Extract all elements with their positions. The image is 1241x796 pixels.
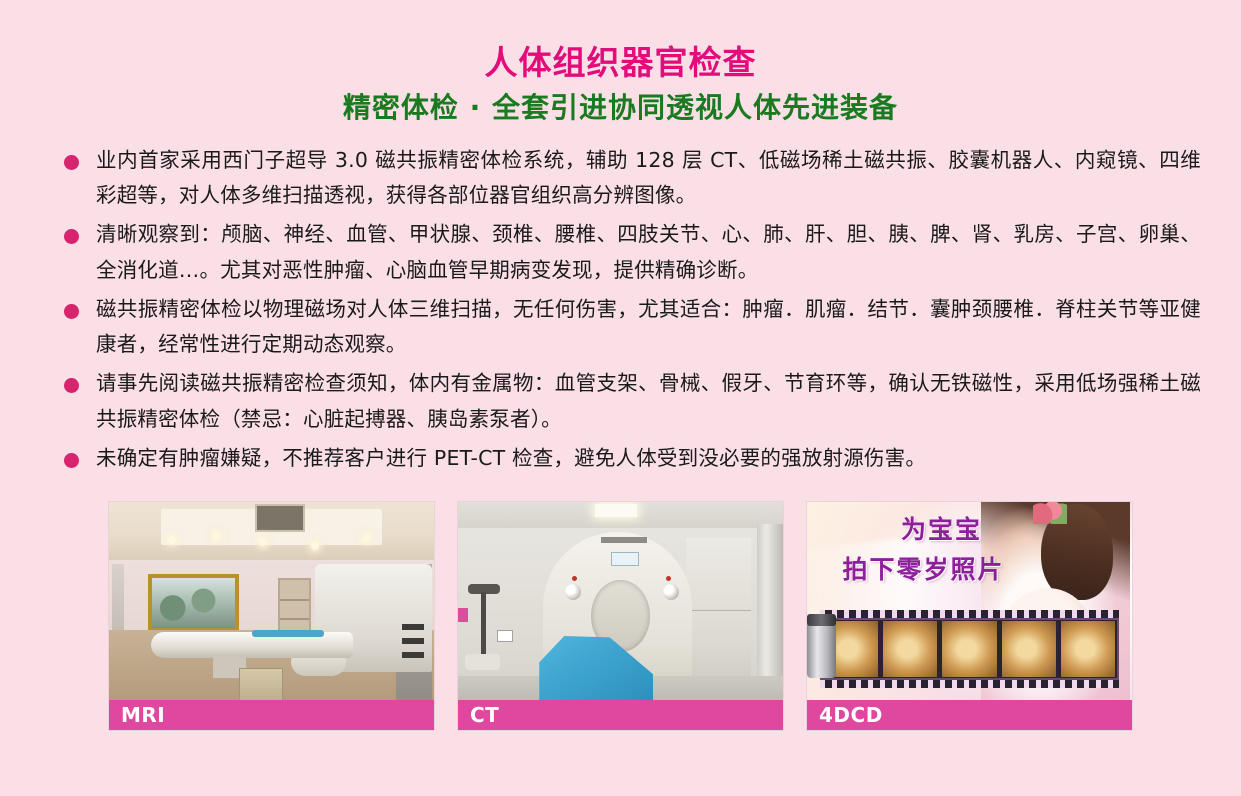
ct-room-illustration [458,502,783,730]
scanner-cabinet [686,538,751,696]
mri-room-illustration [109,502,434,730]
photo-card-ct: CT [458,502,783,730]
ceiling-lamp-icon [213,532,221,540]
filmstrip-frames [824,621,1115,677]
film-canister-cap [807,614,836,626]
list-item-text: 请事先阅读磁共振精密检查须知，体内有金属物：血管支架、骨械、假牙、节育环等，确认… [96,371,1201,430]
status-indicator-light [666,576,671,581]
ceiling [109,502,434,564]
bullet-dot-icon [64,155,79,170]
status-indicator-light [572,576,577,581]
list-item-text: 未确定有肿瘤嫌疑，不推荐客户进行 PET-CT 检查，避免人体受到没必要的强放射… [96,446,926,470]
list-item: 请事先阅读磁共振精密检查须知，体内有金属物：血管支架、骨械、假牙、节育环等，确认… [96,366,1201,437]
filmstrip-perforations-top [820,610,1119,618]
ceiling-lamp-icon [363,534,371,542]
list-item-text: 清晰观察到：颅脑、神经、血管、甲状腺、颈椎、腰椎、四肢关节、心、肺、肝、胆、胰、… [96,222,1201,281]
list-item: 磁共振精密体检以物理磁场对人体三维扫描，无任何伤害，尤其适合：肿瘤．肌瘤．结节．… [96,292,1201,363]
metal-door [757,524,783,694]
cardboard-box [239,668,283,702]
page-subtitle: 精密体检 · 全套引进协同透视人体先进装备 [0,90,1241,125]
ultrasound-frame [883,621,937,677]
bullet-dot-icon [64,453,79,468]
list-item-text: 磁共振精密体检以物理磁场对人体三维扫描，无任何伤害，尤其适合：肿瘤．肌瘤．结节．… [96,297,1201,356]
photo-caption-mri: MRI [109,700,434,730]
scanner-stripe [402,652,425,658]
scanner-stripe [402,624,425,630]
list-item: 未确定有肿瘤嫌疑，不推荐客户进行 PET-CT 检查，避免人体受到没必要的强放射… [96,441,1201,476]
equipment-cart-base [465,654,501,670]
ultrasound-frame [1002,621,1056,677]
flower-crown-icon [1033,502,1067,524]
ceiling-light-icon [595,504,637,517]
header-block: 人体组织器官检查 精密体检 · 全套引进协同透视人体先进装备 [0,0,1241,125]
list-item: 清晰观察到：颅脑、神经、血管、甲状腺、颈椎、腰椎、四肢关节、心、肺、肝、胆、胰、… [96,217,1201,288]
bullet-dot-icon [64,229,79,244]
ceiling-lamp-icon [168,536,176,544]
gantry-control-knob [663,584,679,600]
ceiling-vent [255,504,305,532]
page-title: 人体组织器官检查 [0,44,1241,82]
photo-caption-4dcd: 4DCD [807,700,1132,730]
film-canister [807,620,836,678]
ceiling-lamp-icon [311,542,319,550]
equipment-cart-pole [481,592,486,658]
pink-trolley-bin [458,608,468,622]
photo-gallery: MRI CT [0,502,1241,730]
gantry-display-label [611,552,639,566]
photo-caption-ct: CT [458,700,783,730]
bullet-dot-icon [64,304,79,319]
list-item: 业内首家采用西门子超导 3.0 磁共振精密体检系统，辅助 128 层 CT、低磁… [96,143,1201,214]
ceiling-lamp-icon [259,538,267,546]
list-item-text: 业内首家采用西门子超导 3.0 磁共振精密体检系统，辅助 128 层 CT、低磁… [96,148,1201,207]
wall-socket [497,630,513,642]
photo-card-mri: MRI [109,502,434,730]
framed-painting [148,574,239,632]
patient-table-pad [252,630,324,637]
scanner-stripe [402,638,425,644]
photo-card-4dcd: 为宝宝 拍下零岁照片 4DCD [807,502,1132,730]
filmstrip-perforations-bottom [820,680,1119,688]
ultrasound-frame [942,621,996,677]
feature-bullet-list: 业内首家采用西门子超导 3.0 磁共振精密体检系统，辅助 128 层 CT、低磁… [0,143,1241,476]
filmstrip [820,610,1119,688]
scanner-brand-label [601,537,647,543]
ultrasound-poster-illustration: 为宝宝 拍下零岁照片 [807,502,1132,730]
ultrasound-frame [1061,621,1115,677]
bullet-dot-icon [64,378,79,393]
cabinet-seam [686,610,751,611]
